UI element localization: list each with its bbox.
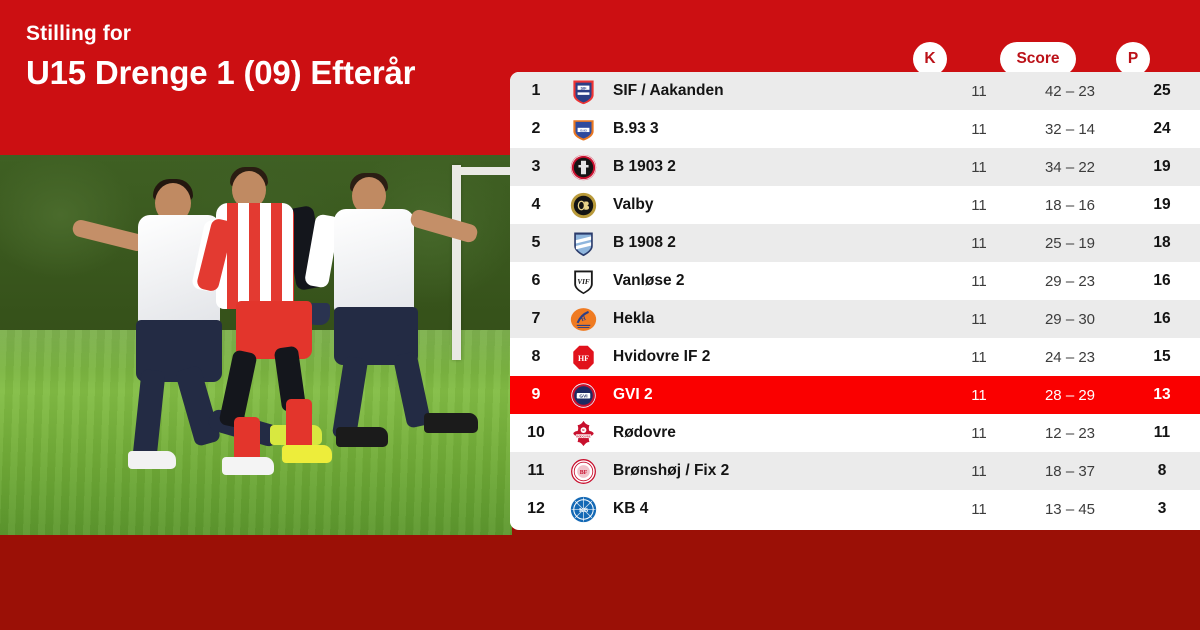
table-row[interactable]: 3B 1903 21134 – 2219 (510, 148, 1200, 186)
row-team-name: Vanløse 2 (604, 272, 942, 290)
row-team-name: Hekla (604, 310, 942, 328)
row-team-name: B 1908 2 (604, 234, 942, 252)
standings-table: 1SIFSIF / Aakanden1142 – 23252B.93B.93 3… (510, 72, 1200, 530)
row-matches-played: 11 (942, 501, 1016, 518)
hekla-logo: H (562, 306, 604, 333)
goal-post-icon (452, 165, 461, 360)
row-points: 8 (1124, 462, 1200, 480)
row-position: 4 (510, 196, 562, 214)
row-team-name: KB 4 (604, 500, 942, 518)
row-goal-score: 28 – 29 (1016, 387, 1124, 404)
row-goal-score: 12 – 23 (1016, 425, 1124, 442)
b1908-logo (562, 230, 604, 257)
row-team-name: B 1903 2 (604, 158, 942, 176)
row-points: 18 (1124, 234, 1200, 252)
row-goal-score: 25 – 19 (1016, 235, 1124, 252)
player-middle-shorts (236, 301, 312, 359)
svg-text:KB: KB (578, 507, 588, 514)
row-position: 12 (510, 500, 562, 518)
column-header-matches: K (913, 42, 947, 76)
row-points: 19 (1124, 158, 1200, 176)
table-row[interactable]: 10RRØDOVRERødovre1112 – 2311 (510, 414, 1200, 452)
row-matches-played: 11 (942, 121, 1016, 138)
row-team-name: Brønshøj / Fix 2 (604, 462, 942, 480)
svg-text:B.93: B.93 (580, 128, 587, 132)
row-goal-score: 29 – 30 (1016, 311, 1124, 328)
table-row[interactable]: 2B.93B.93 31132 – 1424 (510, 110, 1200, 148)
table-row[interactable]: 8HFHvidovre IF 21124 – 2315 (510, 338, 1200, 376)
row-goal-score: 34 – 22 (1016, 159, 1124, 176)
row-goal-score: 13 – 45 (1016, 501, 1124, 518)
table-row[interactable]: 12KBKB 41113 – 453 (510, 490, 1200, 528)
player-right-jersey (334, 209, 414, 315)
row-team-name: B.93 3 (604, 120, 942, 138)
valby-logo (562, 192, 604, 219)
row-matches-played: 11 (942, 349, 1016, 366)
row-matches-played: 11 (942, 463, 1016, 480)
svg-text:SIF: SIF (580, 85, 587, 90)
row-goal-score: 29 – 23 (1016, 273, 1124, 290)
row-position: 9 (510, 386, 562, 404)
header-kicker: Stilling for (26, 22, 486, 46)
row-points: 24 (1124, 120, 1200, 138)
page-title: U15 Drenge 1 (09) Efterår (26, 53, 486, 93)
row-points: 19 (1124, 196, 1200, 214)
row-matches-played: 11 (942, 235, 1016, 252)
footer-band: DANSK·BOLDSPIL·UNION DBU 1889 DBU KØBENH… (0, 535, 1200, 630)
row-position: 7 (510, 310, 562, 328)
row-points: 11 (1124, 424, 1200, 442)
svg-text:HF: HF (577, 353, 588, 362)
hvidovre-logo: HF (562, 344, 604, 371)
row-matches-played: 11 (942, 273, 1016, 290)
row-position: 1 (510, 82, 562, 100)
player-left-boot-back (128, 451, 176, 469)
table-row[interactable]: 6VIFVanløse 21129 – 2316 (510, 262, 1200, 300)
svg-text:VIF: VIF (577, 278, 589, 286)
b93-logo: B.93 (562, 116, 604, 143)
row-points: 3 (1124, 500, 1200, 518)
row-position: 3 (510, 158, 562, 176)
bronshoj-fix-logo: BF (562, 458, 604, 485)
table-row[interactable]: 1SIFSIF / Aakanden1142 – 2325 (510, 72, 1200, 110)
row-goal-score: 24 – 23 (1016, 349, 1124, 366)
row-team-name: GVI 2 (604, 386, 942, 404)
svg-text:GVI: GVI (579, 393, 587, 399)
row-matches-played: 11 (942, 83, 1016, 100)
rodovre-logo: RRØDOVRE (562, 420, 604, 447)
gvi-logo: GVI (562, 382, 604, 409)
table-row[interactable]: 9GVIGVI 21128 – 2913 (510, 376, 1200, 414)
row-points: 16 (1124, 310, 1200, 328)
row-matches-played: 11 (942, 425, 1016, 442)
table-row[interactable]: 4Valby1118 – 1619 (510, 186, 1200, 224)
row-goal-score: 32 – 14 (1016, 121, 1124, 138)
sif-aakanden-logo: SIF (562, 78, 604, 105)
table-row[interactable]: 5B 1908 21125 – 1918 (510, 224, 1200, 262)
player-middle-jersey-striped (216, 203, 294, 309)
table-row[interactable]: 7HHekla1129 – 3016 (510, 300, 1200, 338)
column-header-score: Score (1000, 42, 1076, 76)
player-middle-boot-front (282, 445, 332, 463)
player-middle-boot-back (222, 457, 274, 475)
row-matches-played: 11 (942, 311, 1016, 328)
player-right-boot-front (424, 413, 478, 433)
row-team-name: SIF / Aakanden (604, 82, 942, 100)
row-points: 15 (1124, 348, 1200, 366)
row-team-name: Valby (604, 196, 942, 214)
title-block: Stilling for U15 Drenge 1 (09) Efterår (26, 22, 486, 93)
row-points: 25 (1124, 82, 1200, 100)
kb-logo: KB (562, 496, 604, 523)
row-position: 6 (510, 272, 562, 290)
row-position: 5 (510, 234, 562, 252)
row-team-name: Hvidovre IF 2 (604, 348, 942, 366)
row-position: 8 (510, 348, 562, 366)
row-points: 13 (1124, 386, 1200, 404)
b1903-logo (562, 154, 604, 181)
row-position: 11 (510, 462, 562, 480)
row-matches-played: 11 (942, 159, 1016, 176)
row-position: 2 (510, 120, 562, 138)
row-goal-score: 18 – 16 (1016, 197, 1124, 214)
row-goal-score: 18 – 37 (1016, 463, 1124, 480)
svg-text:RØDOVRE: RØDOVRE (576, 434, 591, 438)
football-photo (0, 155, 512, 535)
table-row[interactable]: 11BFBrønshøj / Fix 21118 – 378 (510, 452, 1200, 490)
vanlose-logo: VIF (562, 268, 604, 295)
row-team-name: Rødovre (604, 424, 942, 442)
svg-text:BF: BF (579, 470, 587, 476)
row-position: 10 (510, 424, 562, 442)
goal-crossbar-icon (452, 167, 512, 175)
row-points: 16 (1124, 272, 1200, 290)
row-goal-score: 42 – 23 (1016, 83, 1124, 100)
column-header-points: P (1116, 42, 1150, 76)
row-matches-played: 11 (942, 387, 1016, 404)
player-right-boot-back (336, 427, 388, 447)
row-matches-played: 11 (942, 197, 1016, 214)
